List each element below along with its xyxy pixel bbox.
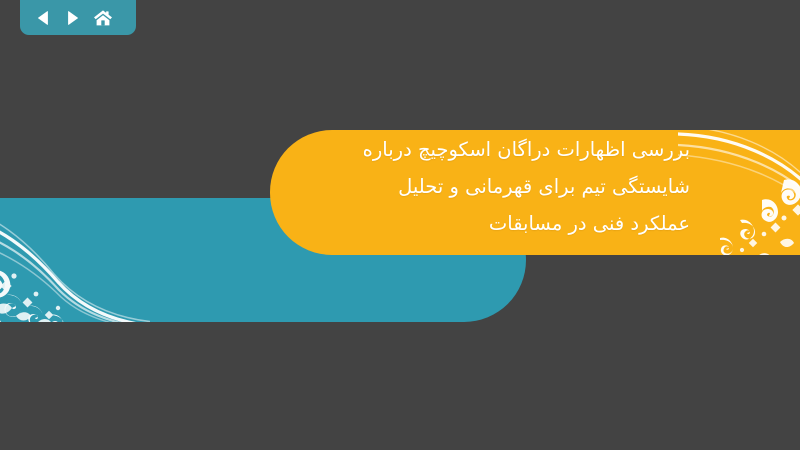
navigation-bar: [20, 0, 136, 35]
forward-triangle-icon: [64, 9, 82, 27]
headline-line-1: بررسی اظهارات دراگان اسکوچیچ درباره: [270, 131, 690, 168]
slide-canvas: بررسی اظهارات دراگان اسکوچیچ درباره شایس…: [0, 0, 800, 450]
arabesque-ornament-icon: [685, 130, 800, 255]
headline-line-3: عملکرد فنی در مسابقات: [270, 205, 690, 242]
home-button[interactable]: [88, 4, 118, 32]
headline-line-2: شایستگی تیم برای قهرمانی و تحلیل: [270, 168, 690, 205]
forward-button[interactable]: [58, 4, 88, 32]
back-button[interactable]: [28, 4, 58, 32]
home-icon: [93, 8, 113, 28]
arabesque-ornament-icon: [0, 198, 150, 322]
back-triangle-icon: [34, 9, 52, 27]
page-title: بررسی اظهارات دراگان اسکوچیچ درباره شایس…: [270, 131, 690, 242]
